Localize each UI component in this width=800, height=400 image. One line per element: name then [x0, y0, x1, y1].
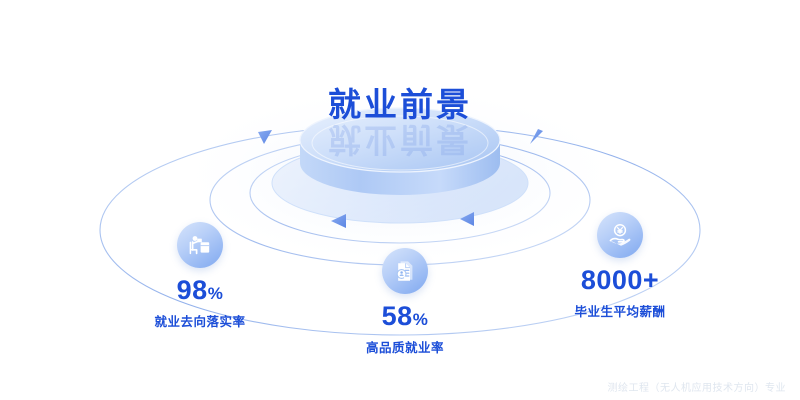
- stat-value: 98%: [105, 277, 295, 304]
- stat-value: 8000+: [525, 267, 715, 294]
- hand-holding-yuan-coin-icon: [597, 212, 643, 258]
- stat-unit: +: [643, 265, 659, 295]
- stat-label: 高品质就业率: [310, 337, 500, 356]
- stat-number: 8000: [581, 265, 643, 295]
- watermark-text: 测绘工程（无人机应用技术方向）专业: [608, 379, 787, 394]
- stat-number: 98: [177, 275, 208, 305]
- person-at-desk-icon: [177, 222, 223, 268]
- stat-value: 58%: [310, 303, 500, 330]
- stat-graduate-average-salary[interactable]: 8000+ 毕业生平均薪酬: [525, 212, 715, 320]
- stat-unit: %: [413, 310, 429, 329]
- stat-unit: %: [208, 284, 224, 303]
- stat-high-quality-employment-rate[interactable]: 58% 高品质就业率: [310, 248, 500, 356]
- stat-label: 毕业生平均薪酬: [525, 301, 715, 320]
- resume-document-icon: [382, 248, 428, 294]
- stat-employment-placement-rate[interactable]: 98% 就业去向落实率: [105, 222, 295, 330]
- page-title: 就业前景: [0, 78, 800, 126]
- stat-label: 就业去向落实率: [105, 311, 295, 330]
- stat-number: 58: [382, 301, 413, 331]
- infographic-canvas: 就业前景 就业前景 98% 就业去向落实率: [0, 0, 800, 400]
